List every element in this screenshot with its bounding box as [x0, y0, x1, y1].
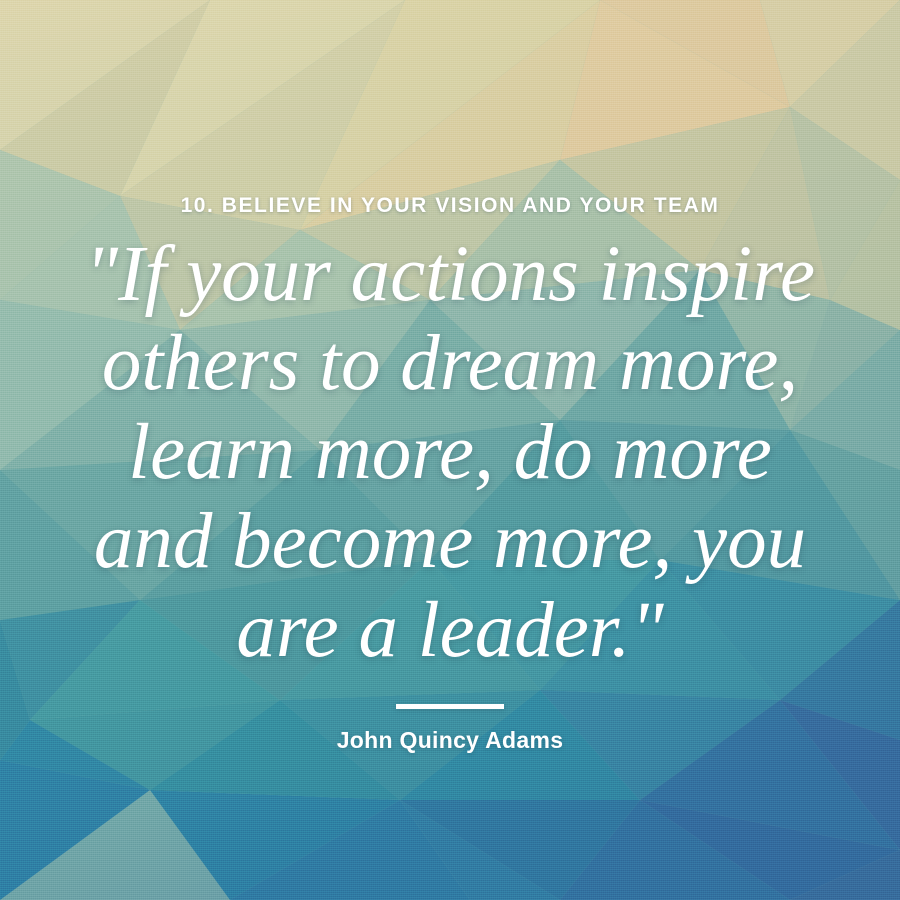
quote-line-3: learn more, do more	[20, 408, 880, 497]
quote-attribution: John Quincy Adams	[337, 727, 564, 754]
card-content: 10. Believe in Your Vision and Your Team…	[0, 0, 900, 900]
quote-line-4: and become more, you	[20, 497, 880, 586]
section-heading: 10. Believe in Your Vision and Your Team	[181, 194, 720, 218]
quote-line-2: others to dream more,	[20, 319, 880, 408]
quote-text: "If your actions inspireothers to dream …	[20, 230, 880, 675]
quote-line-1: "If your actions inspire	[20, 230, 880, 319]
quote-line-5: are a leader."	[20, 586, 880, 675]
divider-rule	[396, 704, 504, 709]
quote-card: 10. Believe in Your Vision and Your Team…	[0, 0, 900, 900]
